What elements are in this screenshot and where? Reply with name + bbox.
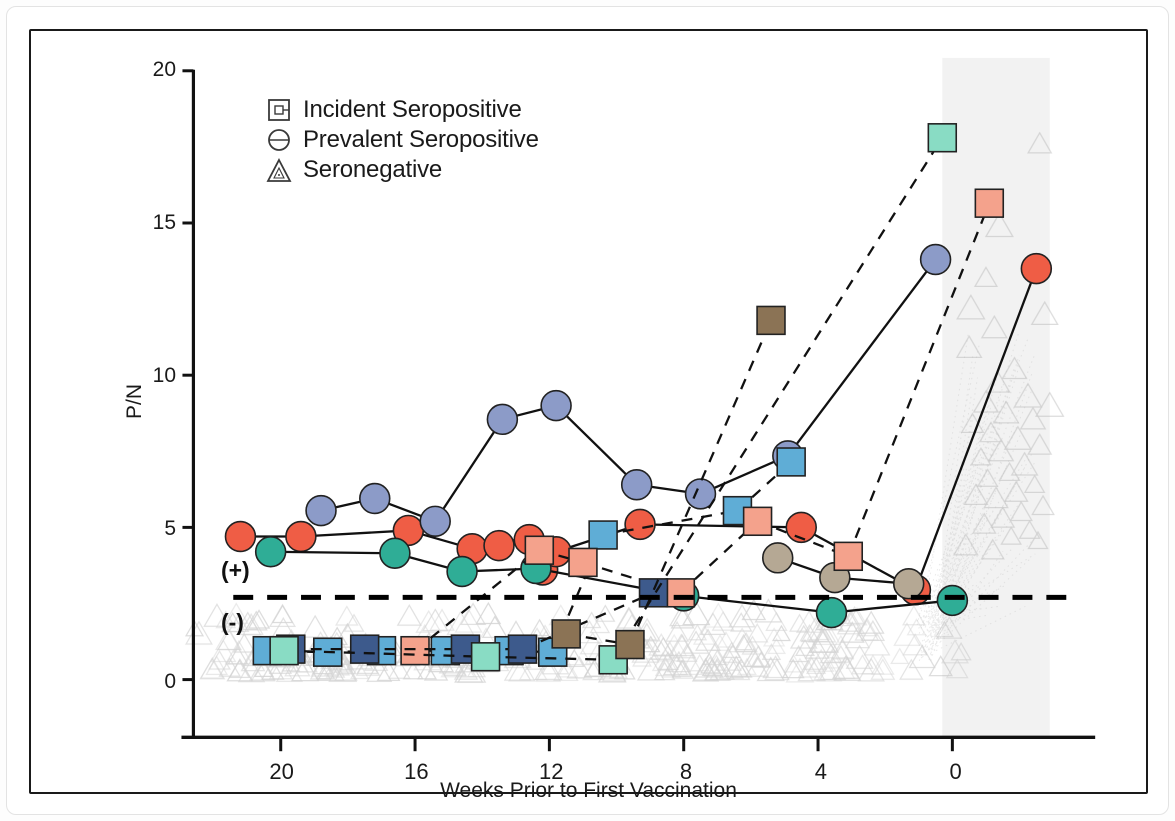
seronegative-triangle [773, 626, 790, 641]
data-point-square [472, 643, 500, 671]
y-tick-label: 10 [116, 364, 176, 388]
chart-legend: Incident Seropositive Prevalent Seroposi… [264, 95, 539, 185]
series-connector-line [603, 511, 737, 535]
y-tick-label: 20 [116, 58, 176, 82]
data-point-circle [286, 522, 316, 552]
x-tick-label: 0 [926, 759, 986, 785]
data-point-square [616, 631, 644, 659]
data-point-circle [937, 586, 967, 616]
x-tick-label: 12 [521, 759, 581, 785]
seronegative-triangle [483, 617, 507, 638]
series-connector-line [271, 552, 395, 554]
series-89dcc4 [270, 124, 956, 674]
series-connector-line [556, 406, 637, 485]
data-point-square [928, 124, 956, 152]
data-point-square [351, 635, 379, 663]
legend-item-prevalent: Prevalent Seropositive [264, 125, 539, 155]
data-point-square [744, 507, 772, 535]
y-tick-label: 0 [116, 670, 176, 694]
data-point-circle [622, 470, 652, 500]
y-tick-label: 15 [116, 211, 176, 235]
series-connector-line [788, 260, 936, 456]
data-point-circle [921, 245, 951, 275]
legend-item-seronegative: Seronegative [264, 155, 539, 185]
legend-item-incident: Incident Seropositive [264, 95, 539, 125]
data-point-circle [817, 598, 847, 628]
data-point-circle [306, 496, 336, 526]
data-point-square [589, 521, 617, 549]
data-point-circle [225, 522, 255, 552]
data-point-circle [487, 404, 517, 434]
seronegative-triangle [900, 660, 922, 679]
data-point-circle [625, 509, 655, 539]
x-tick-label: 4 [791, 759, 851, 785]
y-tick-label: 5 [116, 517, 176, 541]
data-point-square [401, 637, 429, 665]
data-point-square [834, 542, 862, 570]
data-point-circle [447, 557, 477, 587]
data-point-circle [894, 569, 924, 599]
data-point-circle [1021, 254, 1051, 284]
data-point-circle [360, 484, 390, 514]
circle-marker-icon [264, 125, 294, 155]
data-point-square [757, 306, 785, 334]
legend-label-incident: Incident Seropositive [303, 96, 522, 124]
x-tick-label: 20 [252, 759, 312, 785]
seronegative-triangle [507, 621, 524, 636]
data-point-circle [380, 538, 410, 568]
data-point-square [270, 637, 298, 665]
data-point-circle [484, 531, 514, 561]
figure-page: a Incident Seropositive Prevalent Seropo… [0, 0, 1175, 821]
data-point-square [777, 448, 805, 476]
data-point-square [525, 536, 553, 564]
y-axis-title: P/N [123, 384, 147, 419]
data-point-square [569, 548, 597, 576]
legend-label-prevalent: Prevalent Seropositive [303, 126, 539, 154]
data-point-square [552, 620, 580, 648]
plot-frame: Incident Seropositive Prevalent Seroposi… [29, 29, 1148, 794]
square-marker-icon [264, 95, 294, 125]
post-vaccination-shaded-band [942, 58, 1049, 737]
chart-svg [31, 31, 1146, 792]
threshold-negative-label: (-) [221, 609, 244, 636]
data-point-square [975, 189, 1003, 217]
x-tick-label: 16 [386, 759, 446, 785]
seronegative-triangle [590, 616, 609, 632]
data-point-square [666, 579, 694, 607]
seronegative-triangle [864, 633, 889, 655]
seronegative-triangle [903, 606, 925, 625]
data-point-square [640, 579, 668, 607]
data-point-circle [763, 543, 793, 573]
legend-label-seronegative: Seronegative [303, 156, 442, 184]
seronegative-triangle [303, 616, 328, 637]
seronegative-triangle [398, 605, 421, 625]
threshold-positive-label: (+) [221, 557, 250, 584]
figure-card: a Incident Seropositive Prevalent Seropo… [6, 6, 1169, 815]
triangle-marker-icon [264, 155, 294, 185]
series-8c9bc8 [306, 245, 950, 537]
seronegative-triangle [186, 622, 212, 644]
data-point-circle [256, 537, 286, 567]
data-point-circle [420, 506, 450, 536]
series-connector-line [435, 419, 502, 521]
series-connector-line [301, 530, 408, 536]
x-tick-label: 8 [656, 759, 716, 785]
data-point-circle [541, 391, 571, 421]
seronegative-triangle [270, 605, 295, 626]
